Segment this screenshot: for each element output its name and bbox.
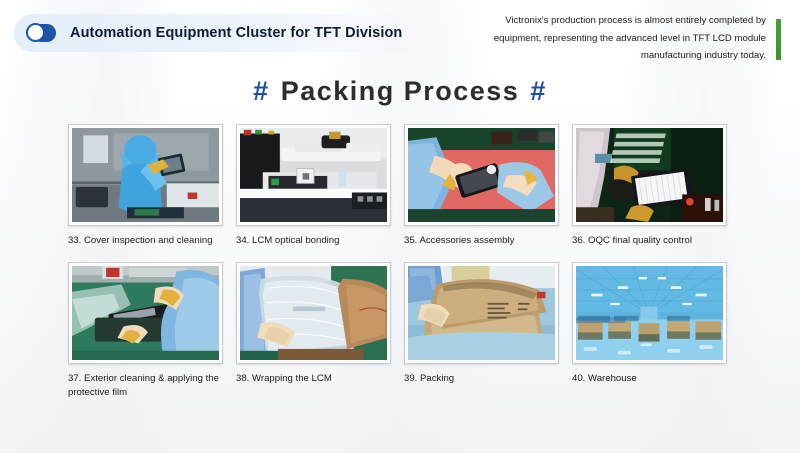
- gallery-caption: 36. OQC final quality control: [572, 234, 732, 248]
- packing-photo: [408, 266, 555, 360]
- thumbnail-frame[interactable]: [572, 124, 727, 226]
- gallery-caption: 39. Packing: [404, 372, 564, 386]
- gallery-caption: 40. Warehouse: [572, 372, 732, 386]
- warehouse-photo: [576, 266, 723, 360]
- toggle-switch-icon: [26, 24, 56, 42]
- gallery-item[interactable]: 38. Wrapping the LCM: [236, 262, 404, 400]
- gallery-item[interactable]: 33. Cover inspection and cleaning: [68, 124, 236, 248]
- gallery-caption: 37. Exterior cleaning & applying the pro…: [68, 372, 228, 400]
- gallery-item[interactable]: 39. Packing: [404, 262, 572, 400]
- page-title: #Packing Process#: [0, 76, 800, 107]
- hash-right-icon: #: [521, 76, 556, 106]
- green-accent-bar: [775, 18, 782, 61]
- gallery-item[interactable]: 35. Accessories assembly: [404, 124, 572, 248]
- thumbnail-frame[interactable]: [68, 124, 223, 226]
- gallery-caption: 35. Accessories assembly: [404, 234, 564, 248]
- process-gallery: 33. Cover inspection and cleaning: [68, 124, 740, 400]
- gallery-item[interactable]: 40. Warehouse: [572, 262, 740, 400]
- oqc-final-quality-control-photo: [576, 128, 723, 222]
- page-title-text: Packing Process: [279, 76, 522, 106]
- gallery-caption: 33. Cover inspection and cleaning: [68, 234, 228, 248]
- exterior-cleaning-protective-film-photo: [72, 266, 219, 360]
- thumbnail-frame[interactable]: [236, 262, 391, 364]
- cover-inspection-cleaning-photo: [72, 128, 219, 222]
- hash-left-icon: #: [244, 76, 279, 106]
- thumbnail-frame[interactable]: [236, 124, 391, 226]
- accessories-assembly-photo: [408, 128, 555, 222]
- thumbnail-frame[interactable]: [404, 262, 559, 364]
- intro-block: Victronix's production process is almost…: [462, 12, 782, 65]
- lcm-optical-bonding-photo: [240, 128, 387, 222]
- wrapping-the-lcm-photo: [240, 266, 387, 360]
- gallery-item[interactable]: 34. LCM optical bonding: [236, 124, 404, 248]
- header-title: Automation Equipment Cluster for TFT Div…: [70, 25, 402, 41]
- gallery-caption: 38. Wrapping the LCM: [236, 372, 396, 386]
- thumbnail-frame[interactable]: [68, 262, 223, 364]
- gallery-item[interactable]: 36. OQC final quality control: [572, 124, 740, 248]
- slide-root: Automation Equipment Cluster for TFT Div…: [0, 0, 800, 453]
- thumbnail-frame[interactable]: [404, 124, 559, 226]
- thumbnail-frame[interactable]: [572, 262, 727, 364]
- gallery-item[interactable]: 37. Exterior cleaning & applying the pro…: [68, 262, 236, 400]
- intro-paragraph: Victronix's production process is almost…: [462, 12, 766, 65]
- header-badge: Automation Equipment Cluster for TFT Div…: [14, 14, 444, 52]
- gallery-caption: 34. LCM optical bonding: [236, 234, 396, 248]
